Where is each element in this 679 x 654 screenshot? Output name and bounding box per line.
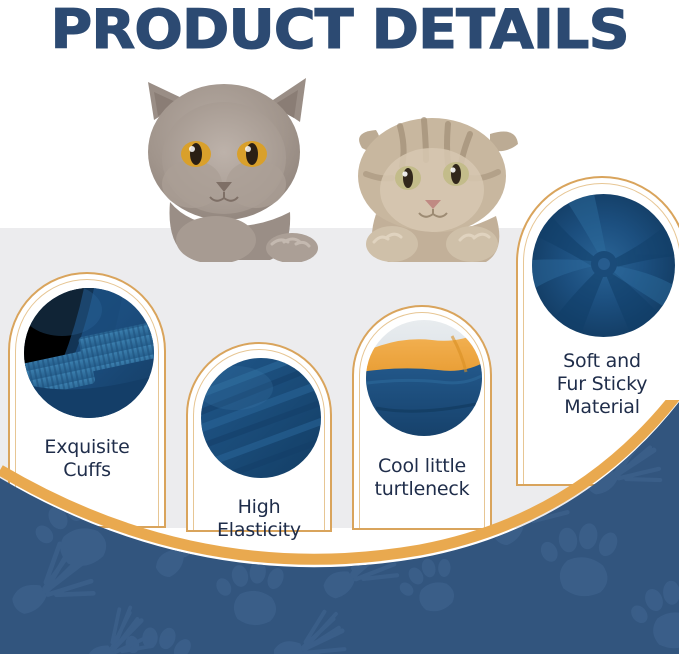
footer-wave [0, 400, 679, 654]
product-details-infographic: PRODUCT DETAILS [0, 0, 679, 654]
cat-tabby-kitten [340, 104, 540, 264]
page-title: PRODUCT DETAILS [0, 2, 679, 58]
photo-exquisite-cuffs [24, 288, 154, 418]
photo-soft-and-fur-sticky-material [532, 194, 675, 337]
cat-gray-kitten [120, 62, 350, 262]
caption-line: Fur Sticky [518, 373, 679, 396]
caption-line: Soft and [518, 350, 679, 373]
